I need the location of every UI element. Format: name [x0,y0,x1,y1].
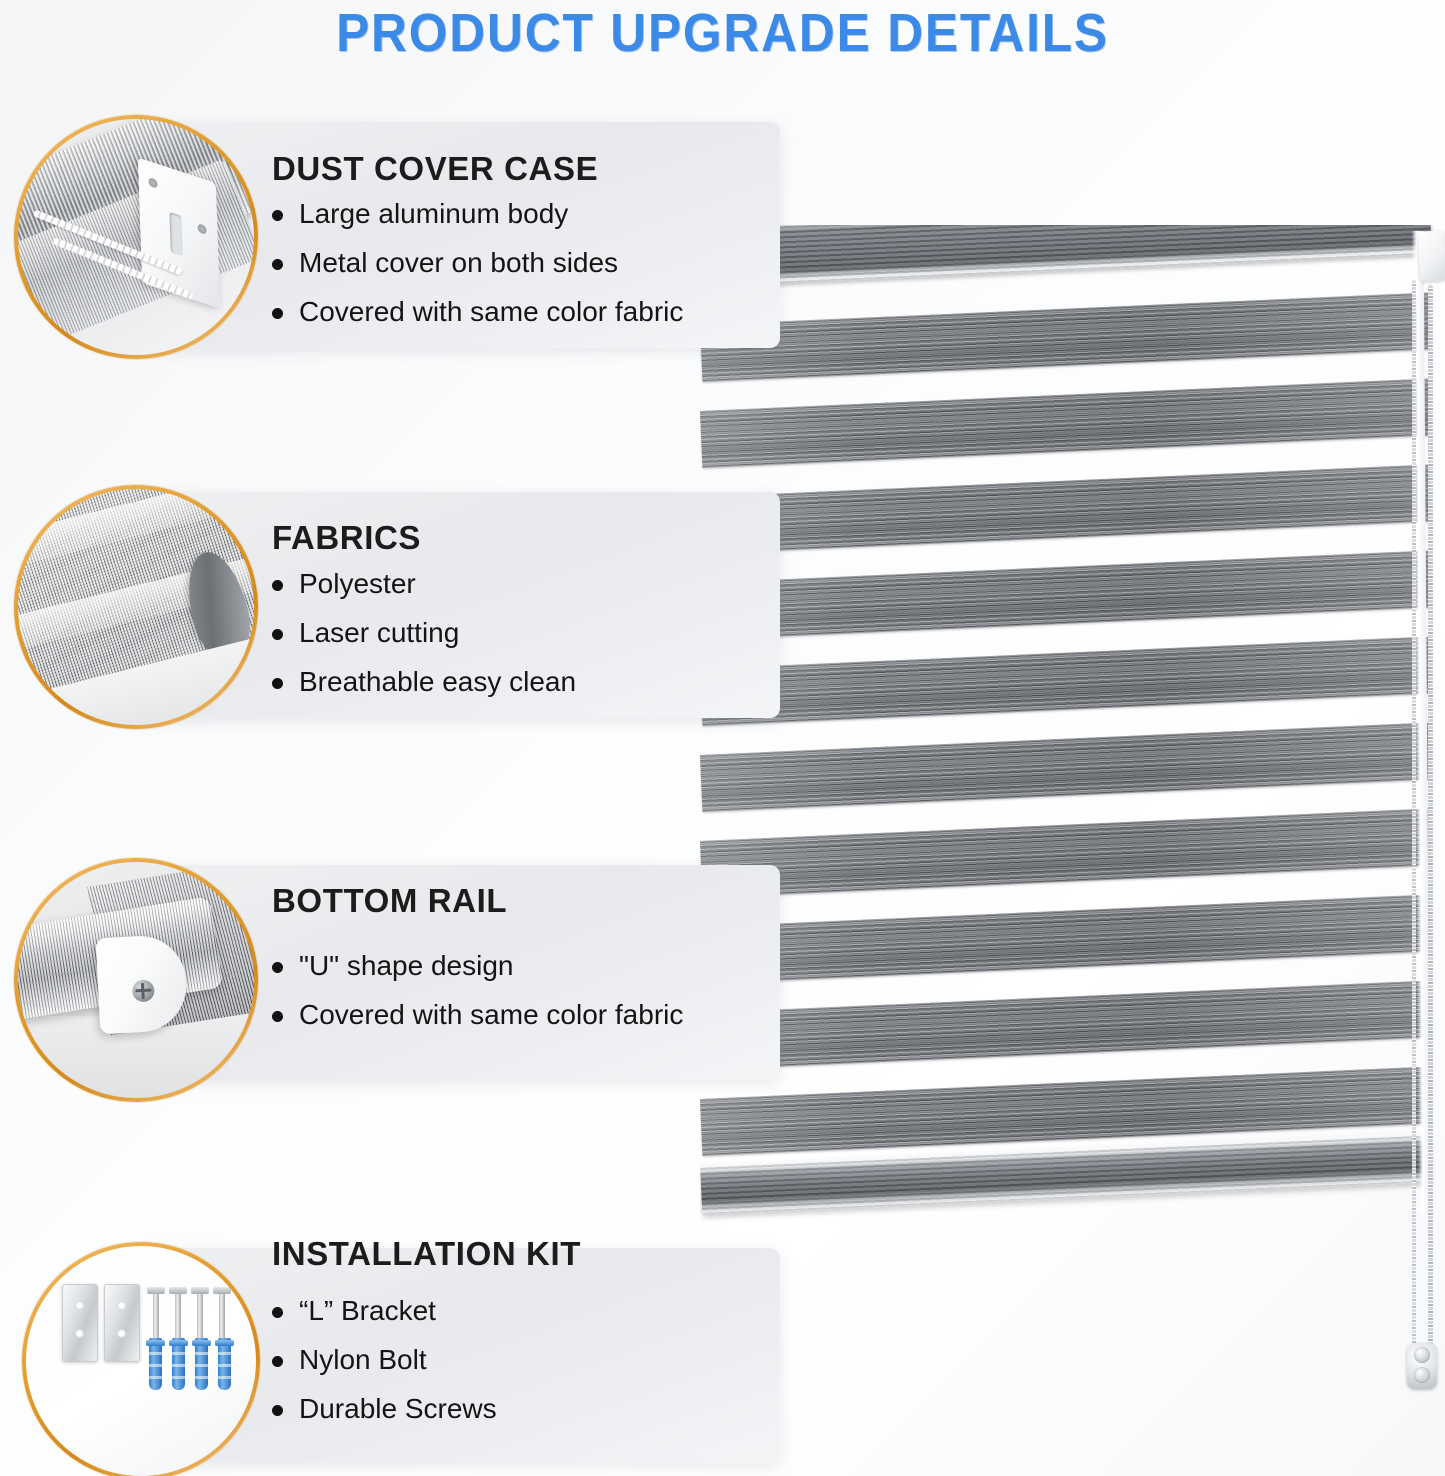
anchor-rib [218,1376,231,1379]
bullet-dot-icon [272,1307,283,1318]
photo-circle-bottom-rail [14,858,258,1102]
list-item: Polyester [272,570,576,598]
page-title: PRODUCT UPGRADE DETAILS [58,2,1387,64]
blind-band [700,293,1432,382]
nylon-anchor [195,1338,208,1390]
nylon-anchor [149,1338,162,1390]
anchor-rib [218,1352,231,1355]
screw-icon [148,177,157,189]
anchor-rib [218,1364,231,1367]
bullet-text: Polyester [299,570,416,598]
bullet-text: Covered with same color fabric [299,1001,683,1029]
blind-band [700,637,1432,726]
list-item: Breathable easy clean [272,668,576,696]
section-heading-dust-cover-case: DUST COVER CASE [272,150,598,188]
bullet-text: Durable Screws [299,1395,497,1423]
blind-headrail [700,225,1432,287]
infographic-canvas: PRODUCT UPGRADE DETAILS DUST COVER CASE … [0,0,1445,1476]
blind-band [700,465,1432,554]
screw-icon [197,223,206,235]
bullet-list-bottom-rail: "U" shape design Covered with same color… [272,952,683,1050]
list-item: Nylon Bolt [272,1346,497,1374]
section-heading-fabrics: FABRICS [272,519,421,557]
bullet-dot-icon [272,580,283,591]
list-item: Covered with same color fabric [272,1001,683,1029]
anchor-rib [149,1352,162,1355]
bullet-dot-icon [272,210,283,221]
anchor-rib [149,1364,162,1367]
list-item: "U" shape design [272,952,683,980]
installation-kit-photo [22,1242,260,1476]
cord-slot [169,212,182,256]
blind-band [700,379,1432,468]
anchor-rib [172,1376,185,1379]
bullet-text: Nylon Bolt [299,1346,427,1374]
screw-icon [132,979,155,1002]
bullet-dot-icon [272,259,283,270]
blind-head-end-cap [1418,230,1445,281]
bullet-dot-icon [272,1405,283,1416]
blind-band [700,723,1432,812]
nylon-anchor [172,1338,185,1390]
anchor-rib [195,1376,208,1379]
l-bracket [62,1284,98,1362]
dust-cover-case-photo [14,115,258,359]
blind-body [700,225,1445,1235]
bullet-text: “L” Bracket [299,1297,436,1325]
bullet-text: Large aluminum body [299,200,568,228]
blind-band [700,551,1432,640]
bullet-dot-icon [272,1011,283,1022]
bead-chain-cord [1428,285,1433,1365]
bullet-dot-icon [272,308,283,319]
anchor-rib [149,1376,162,1379]
anchor-rib [195,1364,208,1367]
chain-connector [1407,1343,1437,1389]
list-item: Large aluminum body [272,200,683,228]
bullet-list-fabrics: Polyester Laser cutting Breathable easy … [272,570,576,717]
blind-band [700,895,1432,984]
bead-chain-cord-second [1412,280,1416,1365]
list-item: Metal cover on both sides [272,249,683,277]
bullet-list-installation-kit: “L” Bracket Nylon Bolt Durable Screws [272,1297,497,1444]
section-heading-installation-kit: INSTALLATION KIT [272,1235,581,1273]
list-item: Durable Screws [272,1395,497,1423]
bullet-text: Covered with same color fabric [299,298,683,326]
anchor-rib [172,1352,185,1355]
list-item: Covered with same color fabric [272,298,683,326]
bullet-text: Breathable easy clean [299,668,576,696]
list-item: “L” Bracket [272,1297,497,1325]
anchor-rib [172,1364,185,1367]
bullet-dot-icon [272,962,283,973]
bullet-dot-icon [272,678,283,689]
anchor-rib [195,1352,208,1355]
bullet-dot-icon [272,1356,283,1367]
photo-circle-installation-kit [22,1242,260,1476]
bullet-list-dust-cover-case: Large aluminum body Metal cover on both … [272,200,683,347]
photo-circle-fabrics [14,485,258,729]
blind-band [700,809,1432,898]
bullet-dot-icon [272,629,283,640]
bullet-text: Laser cutting [299,619,459,647]
nylon-anchor [218,1338,231,1390]
bullet-text: "U" shape design [299,952,513,980]
blind-band [700,981,1432,1070]
list-item: Laser cutting [272,619,576,647]
section-heading-bottom-rail: BOTTOM RAIL [272,882,507,920]
bullet-text: Metal cover on both sides [299,249,618,277]
product-image-zebra-blind [700,225,1445,1235]
bottom-rail-photo [14,858,258,1102]
photo-circle-dust-cover-case [14,115,258,359]
fabric-closeup-photo [14,485,258,729]
l-bracket [104,1284,140,1362]
